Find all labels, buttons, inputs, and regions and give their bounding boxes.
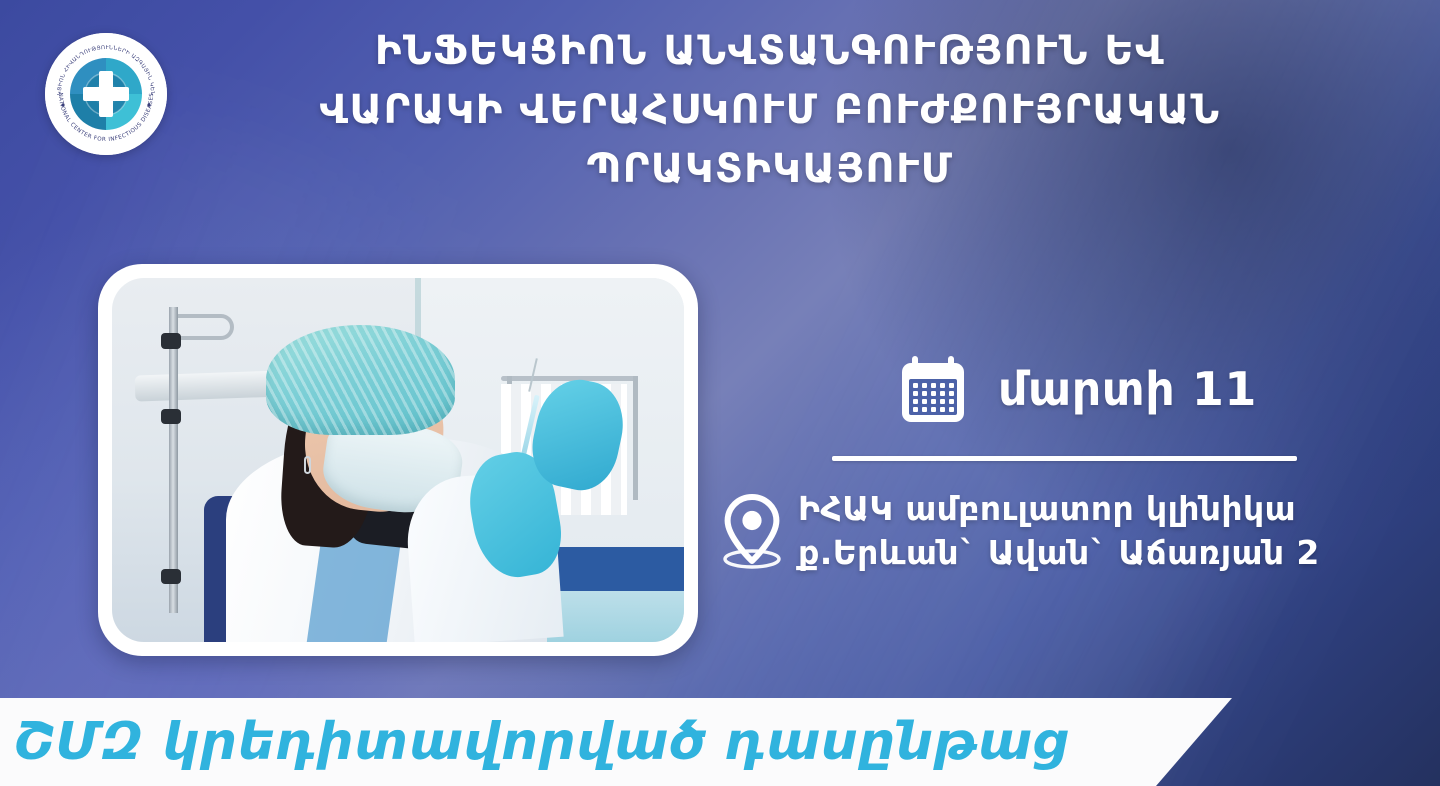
event-date-label: մարտի 11	[998, 362, 1257, 416]
title-line-3: ՊՐԱԿՏԻԿԱՅՈՒՄ	[200, 140, 1340, 199]
title-line-2: ՎԱՐԱԿԻ ՎԵՐԱՀՍԿՈՒՄ ԲՈՒԺՔՈՒՅՐԱԿԱՆ	[200, 81, 1340, 140]
event-info-block: մարտի 11 ԻՀԱԿ ամբուլատոր կլինիկա ք.Երևան…	[716, 352, 1406, 574]
photo-frame	[98, 264, 698, 656]
bottom-banner: ՇՄԶ կրեդիտավորված դասընթաց	[0, 698, 1232, 786]
organization-logo: ԻՆՖԵԿՑԻՈՆ ՀԻՎԱՆԴՈՒԹՅՈՒՆՆԵՐԻ ԱԶԳԱՅԻՆ ԿԵՆՏ…	[45, 33, 167, 155]
info-divider	[832, 456, 1297, 461]
title-line-1: ԻՆՖԵԿՑԻՈՆ ԱՆՎՏԱՆԳՈՒԹՅՈՒՆ ԵՎ	[200, 22, 1340, 81]
location-line-2: ք.Երևան` Ավան` Աճառյան 2	[798, 533, 1320, 572]
event-location-row: ԻՀԱԿ ամբուլատոր կլինիկա ք.Երևան` Ավան` Ա…	[716, 487, 1406, 574]
banner-label: ՇՄԶ կրեդիտավորված դասընթաց	[14, 712, 1070, 772]
map-pin-icon	[716, 491, 788, 571]
poster-title: ԻՆՖԵԿՑԻՈՆ ԱՆՎՏԱՆԳՈՒԹՅՈՒՆ ԵՎ ՎԱՐԱԿԻ ՎԵՐԱՀ…	[200, 22, 1340, 200]
event-location-label: ԻՀԱԿ ամբուլատոր կլինիկա ք.Երևան` Ավան` Ա…	[798, 487, 1320, 574]
calendar-icon	[896, 352, 970, 426]
location-line-1: ԻՀԱԿ ամբուլատոր կլինիկա	[798, 489, 1296, 528]
event-date-row: մարտի 11	[716, 352, 1406, 426]
nurse-photo	[112, 278, 684, 642]
poster-canvas: ԻՆՖԵԿՑԻՈՆ ՀԻՎԱՆԴՈՒԹՅՈՒՆՆԵՐԻ ԱԶԳԱՅԻՆ ԿԵՆՏ…	[0, 0, 1440, 786]
